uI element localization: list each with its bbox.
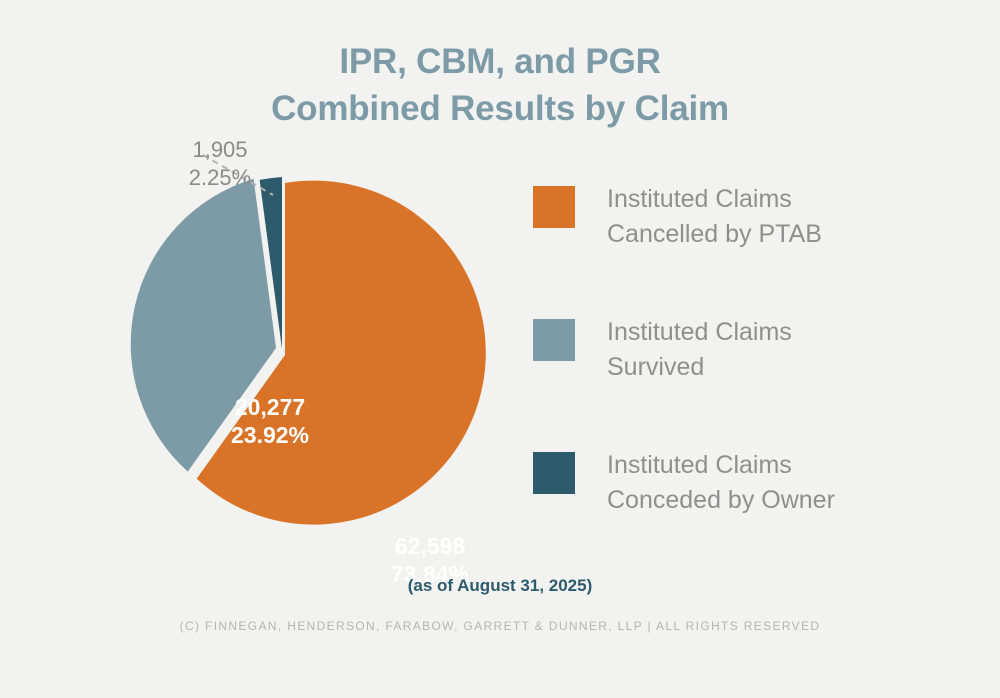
legend-label-cancelled-line-2: Cancelled by PTAB <box>607 217 822 252</box>
legend-swatch-icon-cancelled <box>533 186 575 228</box>
legend-label-survived: Instituted Claims Survived <box>607 315 792 384</box>
legend-label-conceded: Instituted Claims Conceded by Owner <box>607 448 835 517</box>
slice-percent-conceded: 2.25% <box>150 164 290 192</box>
legend-label-conceded-line-1: Instituted Claims <box>607 451 792 479</box>
chart-legend: Instituted Claims Cancelled by PTAB Inst… <box>533 182 963 517</box>
slice-percent-survived: 23.92% <box>190 421 350 449</box>
pie-chart-figure: IPR, CBM, and PGR Combined Results by Cl… <box>0 0 1000 698</box>
legend-swatch-icon-conceded <box>533 452 575 494</box>
as-of-date: (as of August 31, 2025) <box>0 576 1000 596</box>
chart-title-line-1: IPR, CBM, and PGR <box>0 38 1000 85</box>
slice-label-conceded-by-owner: 1,905 2.25% <box>150 136 290 191</box>
pie-chart-svg <box>60 130 530 560</box>
chart-title-line-2: Combined Results by Claim <box>0 85 1000 132</box>
legend-label-cancelled-line-1: Instituted Claims <box>607 185 792 213</box>
legend-label-survived-line-2: Survived <box>607 350 792 385</box>
legend-label-survived-line-1: Instituted Claims <box>607 318 792 346</box>
copyright-notice: (C) FINNEGAN, HENDERSON, FARABOW, GARRET… <box>0 619 1000 633</box>
legend-item-survived[interactable]: Instituted Claims Survived <box>533 315 963 384</box>
pie-chart-area: 62,598 73.84% 20,277 23.92% <box>60 130 530 560</box>
legend-label-cancelled: Instituted Claims Cancelled by PTAB <box>607 182 822 251</box>
chart-title: IPR, CBM, and PGR Combined Results by Cl… <box>0 38 1000 133</box>
legend-item-conceded-by-owner[interactable]: Instituted Claims Conceded by Owner <box>533 448 963 517</box>
slice-value-survived: 20,277 <box>190 393 350 421</box>
slice-label-survived: 20,277 23.92% <box>190 393 350 449</box>
legend-item-cancelled-by-ptab[interactable]: Instituted Claims Cancelled by PTAB <box>533 182 963 251</box>
slice-value-cancelled: 62,598 <box>345 532 515 560</box>
slice-value-conceded: 1,905 <box>150 136 290 164</box>
legend-swatch-icon-survived <box>533 319 575 361</box>
legend-label-conceded-line-2: Conceded by Owner <box>607 483 835 518</box>
